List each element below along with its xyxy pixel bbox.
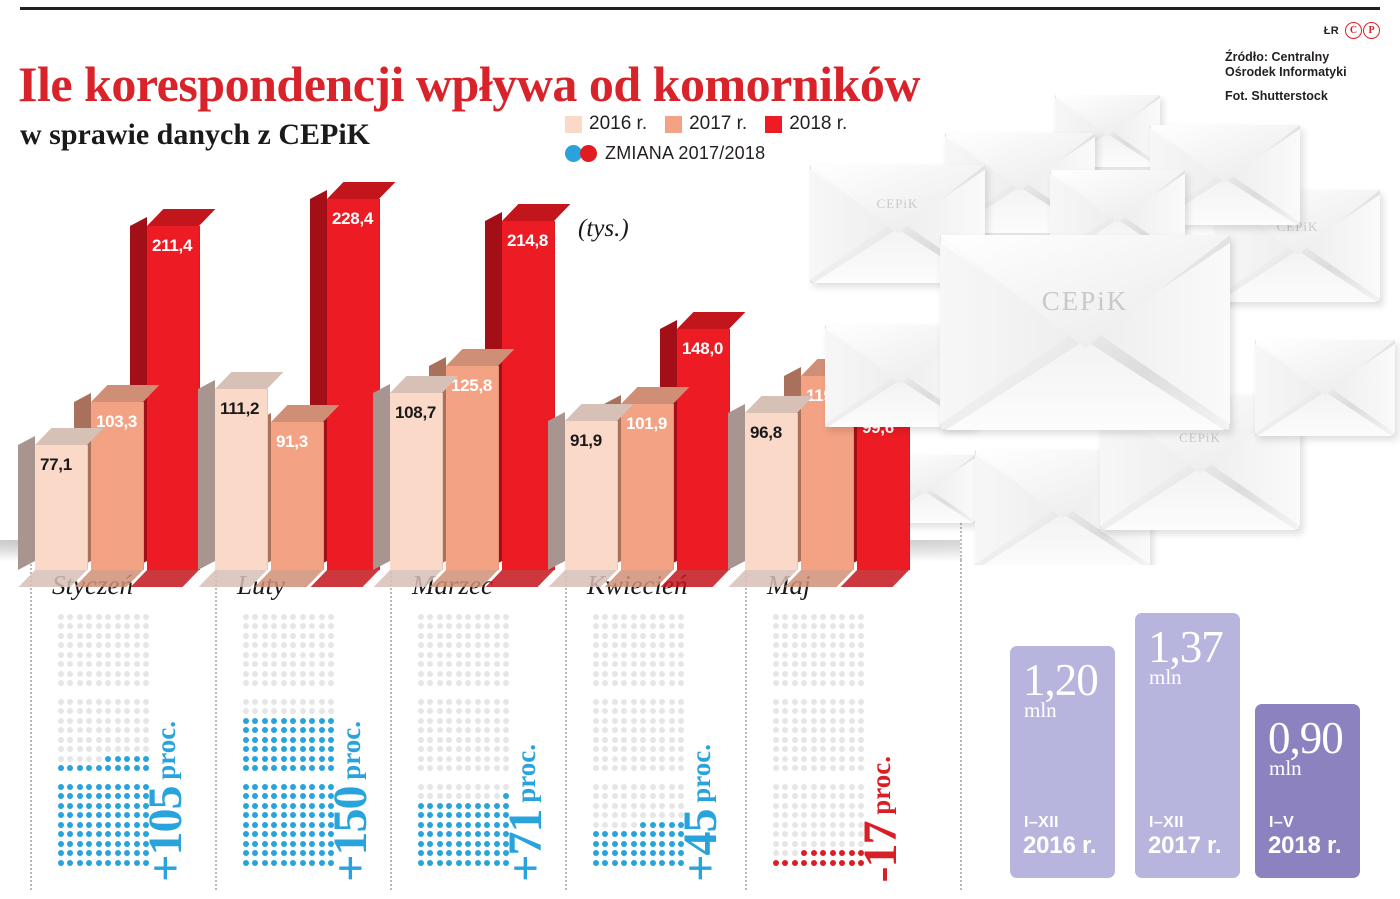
matrix-dot <box>475 737 481 743</box>
matrix-dot <box>262 633 268 639</box>
matrix-dot <box>612 756 618 762</box>
matrix-dot <box>115 708 121 714</box>
matrix-dot <box>77 803 83 809</box>
matrix-dot <box>801 727 807 733</box>
matrix-dot <box>77 793 83 799</box>
matrix-dot <box>830 812 836 818</box>
matrix-dot <box>820 642 826 648</box>
matrix-dot <box>58 822 64 828</box>
bar-maj-2018: 99,6 <box>857 408 909 570</box>
matrix-dot <box>602 699 608 705</box>
matrix-dot <box>281 756 287 762</box>
change-panel-kwiecień: Kwiecień+45 proc. <box>565 560 735 890</box>
matrix-dot <box>262 860 268 866</box>
matrix-dot <box>631 708 637 714</box>
matrix-dot <box>830 737 836 743</box>
matrix-dot <box>593 652 599 658</box>
matrix-dot <box>456 633 462 639</box>
matrix-dot <box>678 652 684 658</box>
matrix-dot <box>418 803 424 809</box>
summary-bar-2018: 0,90mlnI–V2018 r. <box>1255 704 1360 878</box>
matrix-dot <box>593 699 599 705</box>
matrix-dot <box>465 860 471 866</box>
matrix-dot <box>427 699 433 705</box>
matrix-dot <box>124 756 130 762</box>
matrix-dot <box>801 699 807 705</box>
matrix-dot <box>475 756 481 762</box>
matrix-dot <box>115 803 121 809</box>
matrix-dot <box>503 699 509 705</box>
summary-value: 0,90 <box>1268 716 1343 760</box>
matrix-dot <box>96 784 102 790</box>
matrix-dot <box>86 623 92 629</box>
matrix-dot <box>839 652 845 658</box>
matrix-dot <box>58 633 64 639</box>
dot-matrix <box>241 612 336 868</box>
matrix-dot <box>621 680 627 686</box>
matrix-dot <box>124 746 130 752</box>
matrix-dot <box>124 737 130 743</box>
matrix-dot <box>271 803 277 809</box>
matrix-dot <box>290 614 296 620</box>
matrix-dot <box>58 737 64 743</box>
matrix-dot <box>58 671 64 677</box>
matrix-dot <box>281 680 287 686</box>
matrix-dot <box>631 718 637 724</box>
matrix-dot <box>820 614 826 620</box>
matrix-dot <box>115 765 121 771</box>
matrix-dot <box>773 737 779 743</box>
matrix-dot <box>773 746 779 752</box>
matrix-dot <box>124 822 130 828</box>
matrix-dot <box>858 661 864 667</box>
matrix-dot <box>640 661 646 667</box>
matrix-dot <box>271 765 277 771</box>
matrix-dot <box>830 661 836 667</box>
matrix-dot <box>77 708 83 714</box>
matrix-dot <box>801 737 807 743</box>
summary-year: 2018 r. <box>1268 832 1341 860</box>
matrix-dot <box>446 708 452 714</box>
matrix-dot <box>782 784 788 790</box>
matrix-dot <box>659 803 665 809</box>
matrix-dot <box>811 671 817 677</box>
legend-label: 2018 r. <box>789 113 847 135</box>
matrix-dot <box>820 727 826 733</box>
matrix-dot <box>418 680 424 686</box>
matrix-dot <box>650 803 656 809</box>
matrix-dot <box>858 642 864 648</box>
matrix-dot <box>115 793 121 799</box>
matrix-dot <box>593 841 599 847</box>
matrix-dot <box>669 661 675 667</box>
matrix-dot <box>494 765 500 771</box>
matrix-dot <box>96 850 102 856</box>
matrix-dot <box>801 756 807 762</box>
matrix-dot <box>300 803 306 809</box>
bar-luty-2016: 111,2 <box>215 389 267 570</box>
matrix-dot <box>252 614 258 620</box>
matrix-dot <box>58 841 64 847</box>
matrix-dot <box>678 671 684 677</box>
matrix-dot <box>328 652 334 658</box>
matrix-dot <box>484 623 490 629</box>
matrix-dot <box>124 708 130 714</box>
matrix-dot <box>115 737 121 743</box>
matrix-dot <box>319 652 325 658</box>
matrix-dot <box>281 793 287 799</box>
matrix-dot <box>437 671 443 677</box>
matrix-dot <box>811 850 817 856</box>
matrix-dot <box>262 803 268 809</box>
matrix-dot <box>262 652 268 658</box>
matrix-dot <box>659 642 665 648</box>
matrix-dot <box>640 671 646 677</box>
matrix-dot <box>115 671 121 677</box>
matrix-dot <box>290 850 296 856</box>
matrix-dot <box>456 784 462 790</box>
matrix-dot <box>105 793 111 799</box>
matrix-dot <box>446 860 452 866</box>
matrix-dot <box>659 652 665 658</box>
matrix-dot <box>811 812 817 818</box>
matrix-dot <box>262 841 268 847</box>
matrix-dot <box>77 756 83 762</box>
change-number: +150 <box>324 787 377 882</box>
matrix-dot <box>300 708 306 714</box>
matrix-dot <box>858 614 864 620</box>
matrix-dot <box>593 680 599 686</box>
matrix-dot <box>839 831 845 837</box>
matrix-dot <box>669 671 675 677</box>
matrix-dot <box>503 680 509 686</box>
matrix-dot <box>319 746 325 752</box>
matrix-dot <box>115 642 121 648</box>
matrix-dot <box>839 793 845 799</box>
matrix-dot <box>105 850 111 856</box>
matrix-dot <box>640 746 646 752</box>
matrix-dot <box>484 746 490 752</box>
matrix-dot <box>659 831 665 837</box>
bar-marzec-2017: 125,8 <box>446 366 498 570</box>
change-panels: Styczeń+105 proc.Luty+150 proc.Marzec+71… <box>0 560 975 899</box>
matrix-dot <box>782 699 788 705</box>
matrix-dot <box>484 708 490 714</box>
matrix-dot <box>640 718 646 724</box>
matrix-dot <box>849 614 855 620</box>
matrix-dot <box>612 633 618 639</box>
matrix-dot <box>67 614 73 620</box>
matrix-dot <box>427 652 433 658</box>
matrix-dot <box>309 803 315 809</box>
matrix-dot <box>830 765 836 771</box>
matrix-dot <box>262 642 268 648</box>
matrix-dot <box>134 765 140 771</box>
matrix-dot <box>830 793 836 799</box>
matrix-dot <box>271 661 277 667</box>
matrix-dot <box>290 661 296 667</box>
matrix-dot <box>328 623 334 629</box>
matrix-dot <box>300 727 306 733</box>
matrix-dot <box>678 633 684 639</box>
matrix-dot <box>773 614 779 620</box>
matrix-dot <box>602 860 608 866</box>
matrix-dot <box>475 718 481 724</box>
matrix-dot <box>820 633 826 639</box>
matrix-dot <box>446 765 452 771</box>
bar-styczeń-2016: 77,1 <box>35 445 87 570</box>
matrix-dot <box>849 765 855 771</box>
matrix-dot <box>621 737 627 743</box>
matrix-dot <box>252 860 258 866</box>
matrix-dot <box>309 699 315 705</box>
matrix-dot <box>678 737 684 743</box>
matrix-dot <box>782 614 788 620</box>
matrix-dot <box>77 841 83 847</box>
matrix-dot <box>86 841 92 847</box>
matrix-dot <box>593 633 599 639</box>
matrix-dot <box>115 850 121 856</box>
matrix-dot <box>811 680 817 686</box>
matrix-dot <box>811 756 817 762</box>
matrix-dot <box>105 784 111 790</box>
matrix-dot <box>105 671 111 677</box>
matrix-dot <box>839 841 845 847</box>
matrix-dot <box>418 793 424 799</box>
matrix-dot <box>281 614 287 620</box>
matrix-dot <box>77 661 83 667</box>
matrix-dot <box>773 784 779 790</box>
matrix-dot <box>105 822 111 828</box>
matrix-dot <box>593 708 599 714</box>
matrix-dot <box>503 623 509 629</box>
matrix-dot <box>631 737 637 743</box>
matrix-dot <box>446 727 452 733</box>
matrix-dot <box>77 812 83 818</box>
matrix-dot <box>67 671 73 677</box>
matrix-dot <box>475 860 481 866</box>
matrix-dot <box>792 831 798 837</box>
matrix-dot <box>328 614 334 620</box>
matrix-dot <box>631 642 637 648</box>
matrix-dot <box>77 727 83 733</box>
matrix-dot <box>58 727 64 733</box>
matrix-dot <box>115 822 121 828</box>
matrix-dot <box>612 623 618 629</box>
summary-year: 2016 r. <box>1023 832 1096 860</box>
matrix-dot <box>243 718 249 724</box>
matrix-dot <box>290 718 296 724</box>
matrix-dot <box>484 850 490 856</box>
matrix-dot <box>281 661 287 667</box>
matrix-dot <box>650 765 656 771</box>
matrix-dot <box>503 708 509 714</box>
matrix-dot <box>271 680 277 686</box>
matrix-dot <box>650 718 656 724</box>
matrix-dot <box>792 642 798 648</box>
matrix-dot <box>475 652 481 658</box>
matrix-dot <box>134 727 140 733</box>
matrix-dot <box>418 765 424 771</box>
matrix-dot <box>58 793 64 799</box>
matrix-dot <box>427 680 433 686</box>
change-panel-styczeń: Styczeń+105 proc. <box>30 560 200 890</box>
matrix-dot <box>309 623 315 629</box>
matrix-dot <box>820 718 826 724</box>
matrix-dot <box>494 614 500 620</box>
matrix-dot <box>105 803 111 809</box>
matrix-dot <box>678 708 684 714</box>
matrix-dot <box>640 652 646 658</box>
matrix-dot <box>465 642 471 648</box>
matrix-dot <box>143 671 149 677</box>
matrix-dot <box>659 708 665 714</box>
matrix-dot <box>475 680 481 686</box>
matrix-dot <box>593 642 599 648</box>
matrix-dot <box>782 860 788 866</box>
matrix-dot <box>801 680 807 686</box>
matrix-dot <box>96 708 102 714</box>
matrix-dot <box>801 765 807 771</box>
matrix-dot <box>631 633 637 639</box>
dot-block <box>241 697 336 773</box>
matrix-dot <box>86 784 92 790</box>
matrix-dot <box>446 793 452 799</box>
matrix-dot <box>475 793 481 799</box>
matrix-dot <box>792 718 798 724</box>
matrix-dot <box>58 614 64 620</box>
matrix-dot <box>782 623 788 629</box>
matrix-dot <box>456 831 462 837</box>
matrix-dot <box>593 671 599 677</box>
bar-front-face <box>446 366 499 570</box>
matrix-dot <box>290 633 296 639</box>
matrix-dot <box>446 718 452 724</box>
matrix-dot <box>484 680 490 686</box>
matrix-dot <box>792 680 798 686</box>
matrix-dot <box>67 784 73 790</box>
change-unit: proc. <box>686 744 716 810</box>
matrix-dot <box>612 671 618 677</box>
matrix-dot <box>839 623 845 629</box>
matrix-dot <box>612 831 618 837</box>
matrix-dot <box>134 680 140 686</box>
matrix-dot <box>77 765 83 771</box>
matrix-dot <box>124 671 130 677</box>
matrix-dot <box>309 765 315 771</box>
matrix-dot <box>669 803 675 809</box>
matrix-dot <box>602 784 608 790</box>
matrix-dot <box>839 860 845 866</box>
matrix-dot <box>262 614 268 620</box>
matrix-dot <box>782 642 788 648</box>
matrix-dot <box>290 803 296 809</box>
bar-kwiecień-2018: 148,0 <box>677 329 729 570</box>
matrix-dot <box>792 746 798 752</box>
matrix-dot <box>465 784 471 790</box>
matrix-dot <box>678 642 684 648</box>
matrix-dot <box>801 793 807 799</box>
matrix-dot <box>67 633 73 639</box>
matrix-dot <box>300 793 306 799</box>
matrix-dot <box>484 860 490 866</box>
matrix-dot <box>427 727 433 733</box>
matrix-dot <box>271 671 277 677</box>
matrix-dot <box>134 652 140 658</box>
matrix-dot <box>243 623 249 629</box>
matrix-dot <box>475 841 481 847</box>
matrix-dot <box>418 850 424 856</box>
matrix-dot <box>252 727 258 733</box>
matrix-dot <box>801 652 807 658</box>
matrix-dot <box>418 708 424 714</box>
matrix-dot <box>773 822 779 828</box>
bar-marzec-2018: 214,8 <box>502 221 554 570</box>
matrix-dot <box>134 623 140 629</box>
matrix-dot <box>503 671 509 677</box>
matrix-dot <box>640 727 646 733</box>
matrix-dot <box>640 831 646 837</box>
matrix-dot <box>271 727 277 733</box>
matrix-dot <box>77 822 83 828</box>
matrix-dot <box>773 765 779 771</box>
matrix-dot <box>612 737 618 743</box>
matrix-dot <box>782 812 788 818</box>
matrix-dot <box>484 633 490 639</box>
envelope-icon: CEPiK <box>940 235 1230 430</box>
matrix-dot <box>300 860 306 866</box>
matrix-dot <box>124 718 130 724</box>
matrix-dot <box>58 708 64 714</box>
matrix-dot <box>281 708 287 714</box>
matrix-dot <box>494 642 500 648</box>
matrix-dot <box>446 756 452 762</box>
matrix-dot <box>105 699 111 705</box>
matrix-dot <box>418 784 424 790</box>
matrix-dot <box>252 756 258 762</box>
matrix-dot <box>503 737 509 743</box>
matrix-dot <box>494 652 500 658</box>
matrix-dot <box>309 812 315 818</box>
matrix-dot <box>319 699 325 705</box>
matrix-dot <box>782 803 788 809</box>
matrix-dot <box>839 737 845 743</box>
matrix-dot <box>659 765 665 771</box>
matrix-dot <box>782 822 788 828</box>
matrix-dot <box>484 765 490 771</box>
matrix-dot <box>262 671 268 677</box>
matrix-dot <box>243 699 249 705</box>
matrix-dot <box>456 793 462 799</box>
matrix-dot <box>134 633 140 639</box>
dot-block <box>241 612 336 688</box>
matrix-dot <box>631 793 637 799</box>
matrix-dot <box>484 841 490 847</box>
matrix-dot <box>811 803 817 809</box>
matrix-dot <box>612 708 618 714</box>
matrix-dot <box>593 803 599 809</box>
matrix-dot <box>290 756 296 762</box>
matrix-dot <box>456 671 462 677</box>
matrix-dot <box>77 671 83 677</box>
matrix-dot <box>612 652 618 658</box>
bar-side-face <box>373 384 390 570</box>
matrix-dot <box>593 614 599 620</box>
matrix-dot <box>427 784 433 790</box>
matrix-dot <box>801 708 807 714</box>
matrix-dot <box>281 784 287 790</box>
matrix-dot <box>631 803 637 809</box>
